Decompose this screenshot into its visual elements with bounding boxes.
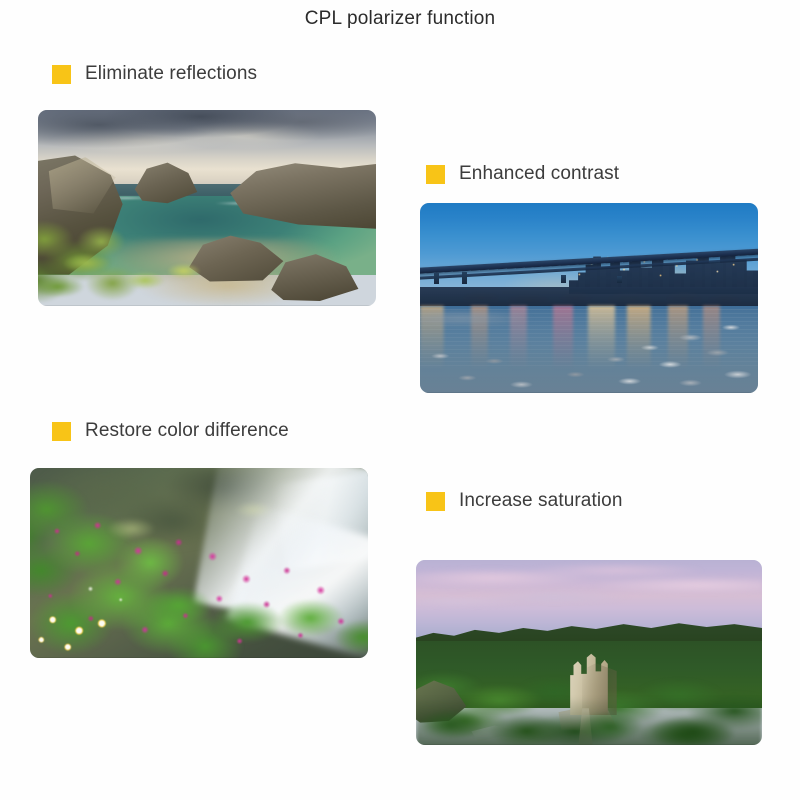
photo3-sun-highlights <box>30 468 368 658</box>
yellow-square-bullet-icon <box>426 165 445 184</box>
feature-label-text: Increase saturation <box>459 490 623 512</box>
yellow-square-bullet-icon <box>426 492 445 511</box>
feature-label-enhanced-contrast: Enhanced contrast <box>426 163 619 185</box>
castle-valley-photo <box>416 560 762 745</box>
photo2-pebbles <box>420 309 758 393</box>
photo2-bridge-pier <box>561 275 566 283</box>
feature-label-text: Eliminate reflections <box>85 63 257 85</box>
yellow-square-bullet-icon <box>52 422 71 441</box>
feature-label-increase-saturation: Increase saturation <box>426 490 623 512</box>
poster-page: CPL polarizer function Eliminate reflect… <box>0 0 800 800</box>
page-title: CPL polarizer function <box>0 8 800 30</box>
coastal-cove-photo <box>38 110 376 306</box>
yellow-square-bullet-icon <box>52 65 71 84</box>
photo1-vegetation-flowers <box>38 232 281 306</box>
feature-label-text: Enhanced contrast <box>459 163 619 185</box>
night-city-bridge-photo <box>420 203 758 393</box>
photo2-bridge-pier <box>434 273 439 284</box>
photo4-clouds <box>416 560 762 634</box>
photo2-bridge-pier <box>617 276 622 283</box>
photo2-bridge <box>420 260 758 298</box>
feature-label-restore-color-difference: Restore color difference <box>52 420 289 442</box>
feature-label-eliminate-reflections: Eliminate reflections <box>52 63 257 85</box>
feature-label-text: Restore color difference <box>85 420 289 442</box>
photo2-bridge-pier <box>462 272 467 283</box>
photo4-foreground-forest <box>416 697 762 745</box>
wildflowers-stream-photo <box>30 468 368 658</box>
